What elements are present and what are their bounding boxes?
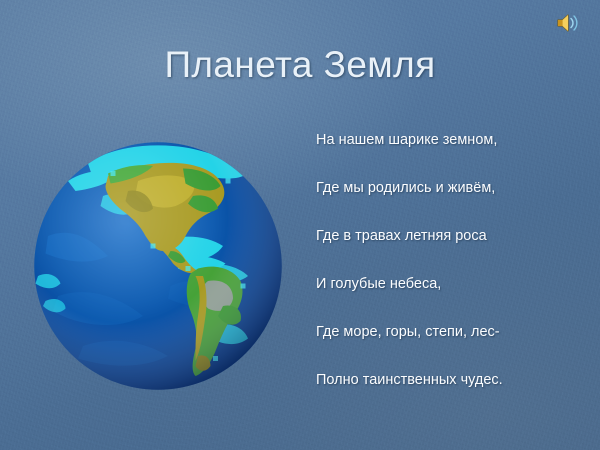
page-title: Планета Земля	[0, 42, 600, 88]
poem-line: Где мы родились и живём,	[316, 179, 584, 227]
earth-globe-container	[33, 141, 283, 391]
poem-line: Где море, горы, степи, лес-	[316, 323, 584, 371]
poem-line: Где в травах летняя роса	[316, 227, 584, 275]
earth-globe-image	[33, 141, 283, 391]
poem-text-block: На нашем шарике земном, Где мы родились …	[316, 131, 584, 419]
speaker-icon[interactable]: Звук	[554, 10, 584, 36]
presentation-slide: Звук Планета Земля	[0, 0, 600, 450]
poem-line: И голубые небеса,	[316, 275, 584, 323]
poem-line: На нашем шарике земном,	[316, 131, 584, 179]
poem-line: Полно таинственных чудес.	[316, 371, 584, 419]
